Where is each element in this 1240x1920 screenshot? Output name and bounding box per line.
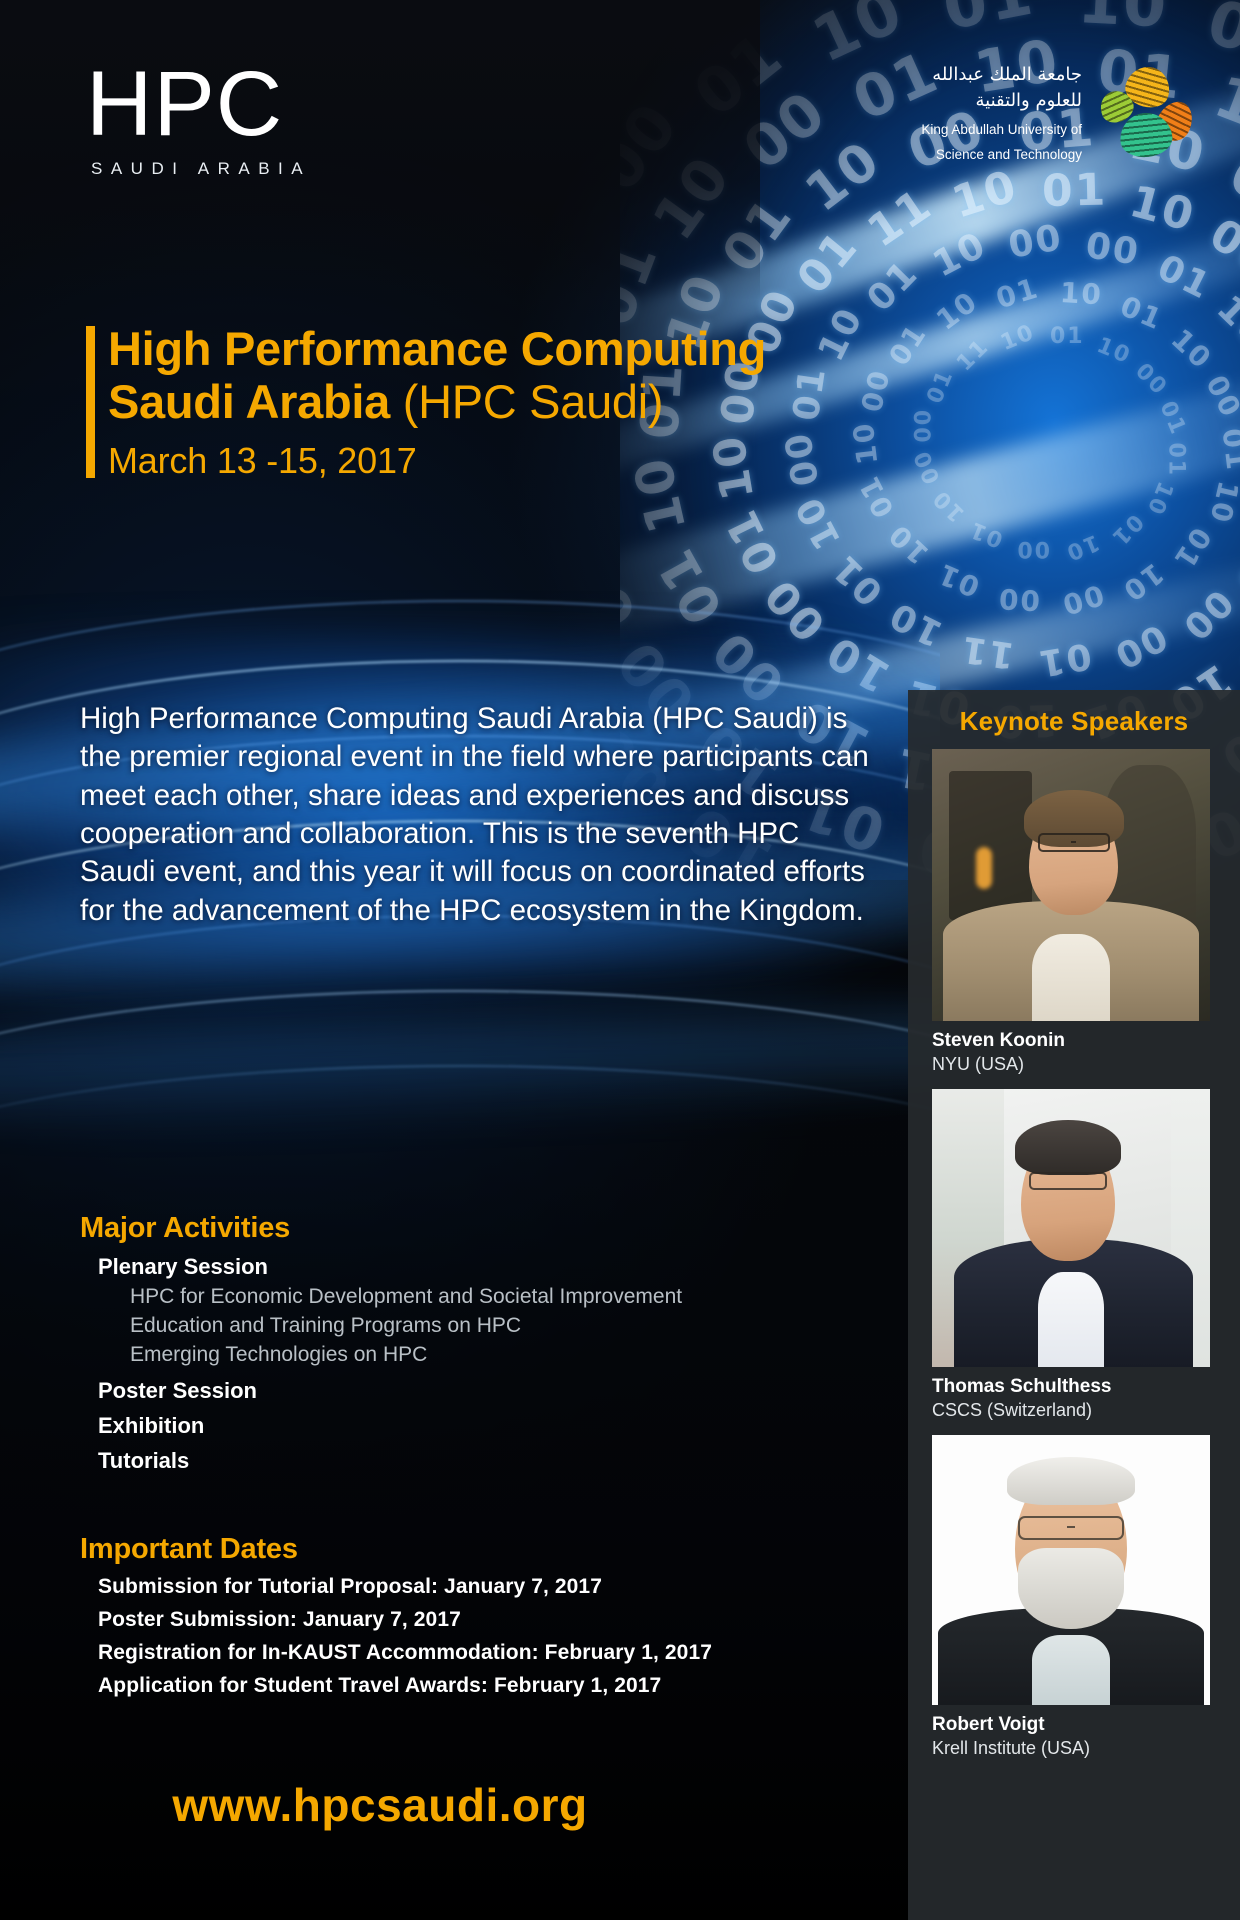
binary-digit: 10 [1093,333,1135,369]
speaker-card: Thomas Schulthess CSCS (Switzerland) [908,1089,1240,1421]
portrait-steven-koonin [932,749,1210,1021]
binary-digit: 10 [801,0,914,76]
binary-digit: 10 [1203,478,1240,527]
speaker-photo [932,749,1210,1021]
kaust-english-line-1: King Abdullah University of [921,121,1082,139]
important-date-row: Application for Student Travel Awards: F… [98,1674,910,1698]
portrait-robert-voigt [932,1435,1210,1705]
hpc-logo-mark: HPC [86,58,311,150]
binary-digit: 10 [1076,0,1170,42]
website-url[interactable]: www.hpcsaudi.org [0,1778,760,1832]
title-line-2-light: (HPC Saudi) [403,375,664,428]
speaker-name: Steven Koonin [932,1030,1216,1052]
activity-item: Plenary Session [98,1254,860,1280]
binary-digit: 10 [1061,528,1103,564]
speaker-name: Thomas Schulthess [932,1376,1216,1398]
activity-item: Tutorials [98,1448,860,1474]
activity-item: Education and Training Programs on HPC [130,1314,860,1338]
important-dates-heading: Important Dates [80,1533,910,1566]
event-dates: March 13 -15, 2017 [108,440,876,482]
speaker-affiliation: Krell Institute (USA) [932,1738,1216,1759]
important-dates-list: Submission for Tutorial Proposal: Januar… [80,1575,910,1698]
hpc-logo-subtitle: SAUDI ARABIA [91,159,311,179]
activity-item: Poster Session [98,1378,860,1404]
speaker-photo [932,1089,1210,1367]
major-activities-section: Major Activities Plenary SessionHPC for … [80,1212,860,1474]
hpc-logo: HPC SAUDI ARABIA [86,58,311,179]
page-title: High Performance Computing Saudi Arabia … [108,322,876,428]
binary-digit: 00 [912,408,937,443]
binary-digit: 00 [1200,0,1240,81]
binary-digit: 10 [795,129,892,223]
important-date-row: Submission for Tutorial Proposal: Januar… [98,1575,910,1599]
poster-root: 0110011000011000000111100110000110011000… [0,0,1240,1920]
major-activities-list: Plenary SessionHPC for Economic Developm… [80,1254,860,1474]
kaust-logo: جامعة الملك عبدالله للعلوم والتقنية King… [921,62,1192,165]
binary-digit: 00 [996,581,1041,616]
keynote-speakers-panel: Keynote Speakers Steven Koonin NYU (USA) [908,690,1240,1920]
activity-item: Emerging Technologies on HPC [130,1343,860,1367]
important-date-row: Registration for In-KAUST Accommodation:… [98,1641,910,1665]
kaust-arabic-line-2: للعلوم والتقنية [921,88,1082,114]
important-date-row: Poster Submission: January 7, 2017 [98,1608,910,1632]
binary-digit: 01 [1166,522,1217,576]
portrait-thomas-schulthess [932,1089,1210,1367]
speaker-affiliation: CSCS (Switzerland) [932,1400,1216,1421]
speaker-affiliation: NYU (USA) [932,1054,1216,1075]
speaker-card: Robert Voigt Krell Institute (USA) [908,1435,1240,1759]
speaker-card: Steven Koonin NYU (USA) [908,749,1240,1075]
kaust-english-line-2: Science and Technology [921,146,1082,164]
kaust-logo-text: جامعة الملك عبدالله للعلوم والتقنية King… [921,62,1082,165]
kaust-petal-icon [1096,65,1192,161]
event-description: High Performance Computing Saudi Arabia … [80,700,880,930]
title-line-1: High Performance Computing [108,322,766,375]
binary-digit: 01 [1106,508,1148,550]
speaker-photo [932,1435,1210,1705]
important-dates-section: Important Dates Submission for Tutorial … [80,1533,910,1698]
activity-item: HPC for Economic Development and Societa… [130,1285,860,1309]
binary-digit: 00 [1130,359,1172,401]
title-line-2-bold: Saudi Arabia [108,375,390,428]
event-title-block: High Performance Computing Saudi Arabia … [86,322,876,482]
binary-digit: 10 [1208,288,1240,355]
activity-item: Exhibition [98,1413,860,1439]
binary-digit: 01 [938,0,1040,44]
keynote-speakers-heading: Keynote Speakers [908,690,1240,749]
binary-digit: 10 [1164,322,1218,375]
speaker-name: Robert Voigt [932,1714,1216,1736]
binary-digit: 00 [1015,536,1050,561]
kaust-arabic-line-1: جامعة الملك عبدالله [921,62,1082,88]
major-activities-heading: Major Activities [80,1212,860,1245]
